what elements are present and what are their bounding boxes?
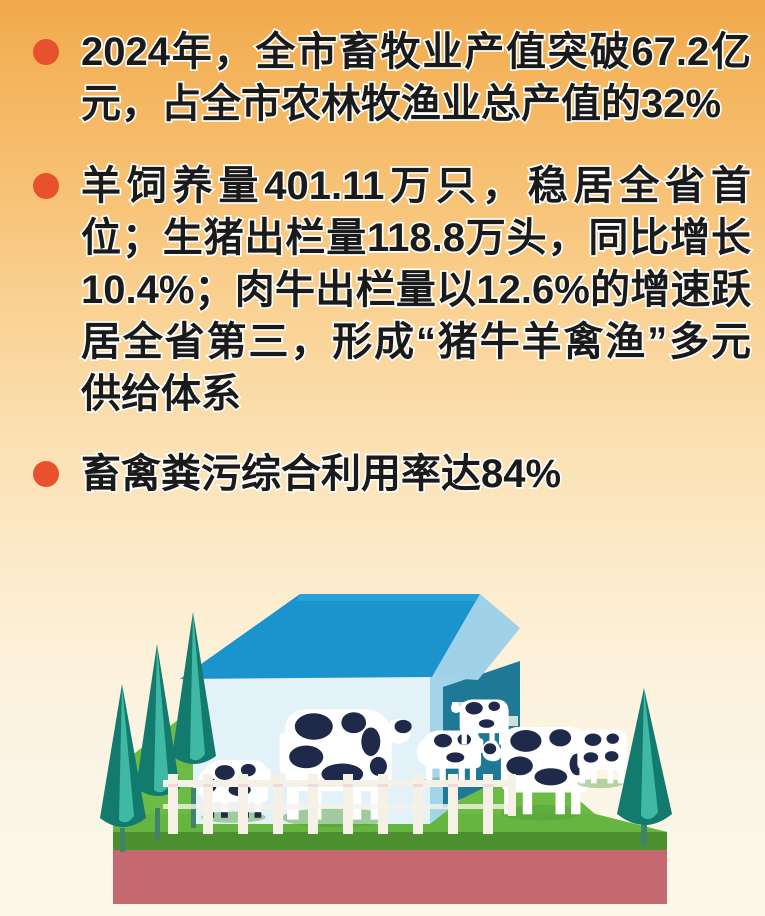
bullet-dot-icon [33, 39, 59, 65]
cow-calf-far-right [577, 729, 627, 788]
livestock-farm-illustration [0, 556, 765, 916]
barn-roof-front [180, 594, 480, 679]
bullet-item-3: 畜禽粪污综合利用率达84% [0, 448, 765, 500]
bullet-item-2: 羊饲养量401.11万只，稳居全省首位；生猪出栏量118.8万头，同比增长10.… [0, 160, 765, 420]
poster-root: 2024年，全市畜牧业产值突破67.2亿元，占全市农林牧渔业总产值的32% 羊饲… [0, 0, 765, 916]
bullet-list: 2024年，全市畜牧业产值突破67.2亿元，占全市农林牧渔业总产值的32% 羊饲… [0, 0, 765, 500]
bullet-text-1: 2024年，全市畜牧业产值突破67.2亿元，占全市农林牧渔业总产值的32% [81, 26, 751, 130]
bullet-dot-icon [33, 461, 59, 487]
bullet-text-2: 羊饲养量401.11万只，稳居全省首位；生猪出栏量118.8万头，同比增长10.… [81, 160, 751, 420]
bullet-dot-icon [33, 173, 59, 199]
bullet-item-1: 2024年，全市畜牧业产值突破67.2亿元，占全市农林牧渔业总产值的32% [0, 26, 765, 130]
bullet-text-3: 畜禽粪污综合利用率达84% [81, 448, 751, 500]
ground-platform [113, 832, 667, 904]
